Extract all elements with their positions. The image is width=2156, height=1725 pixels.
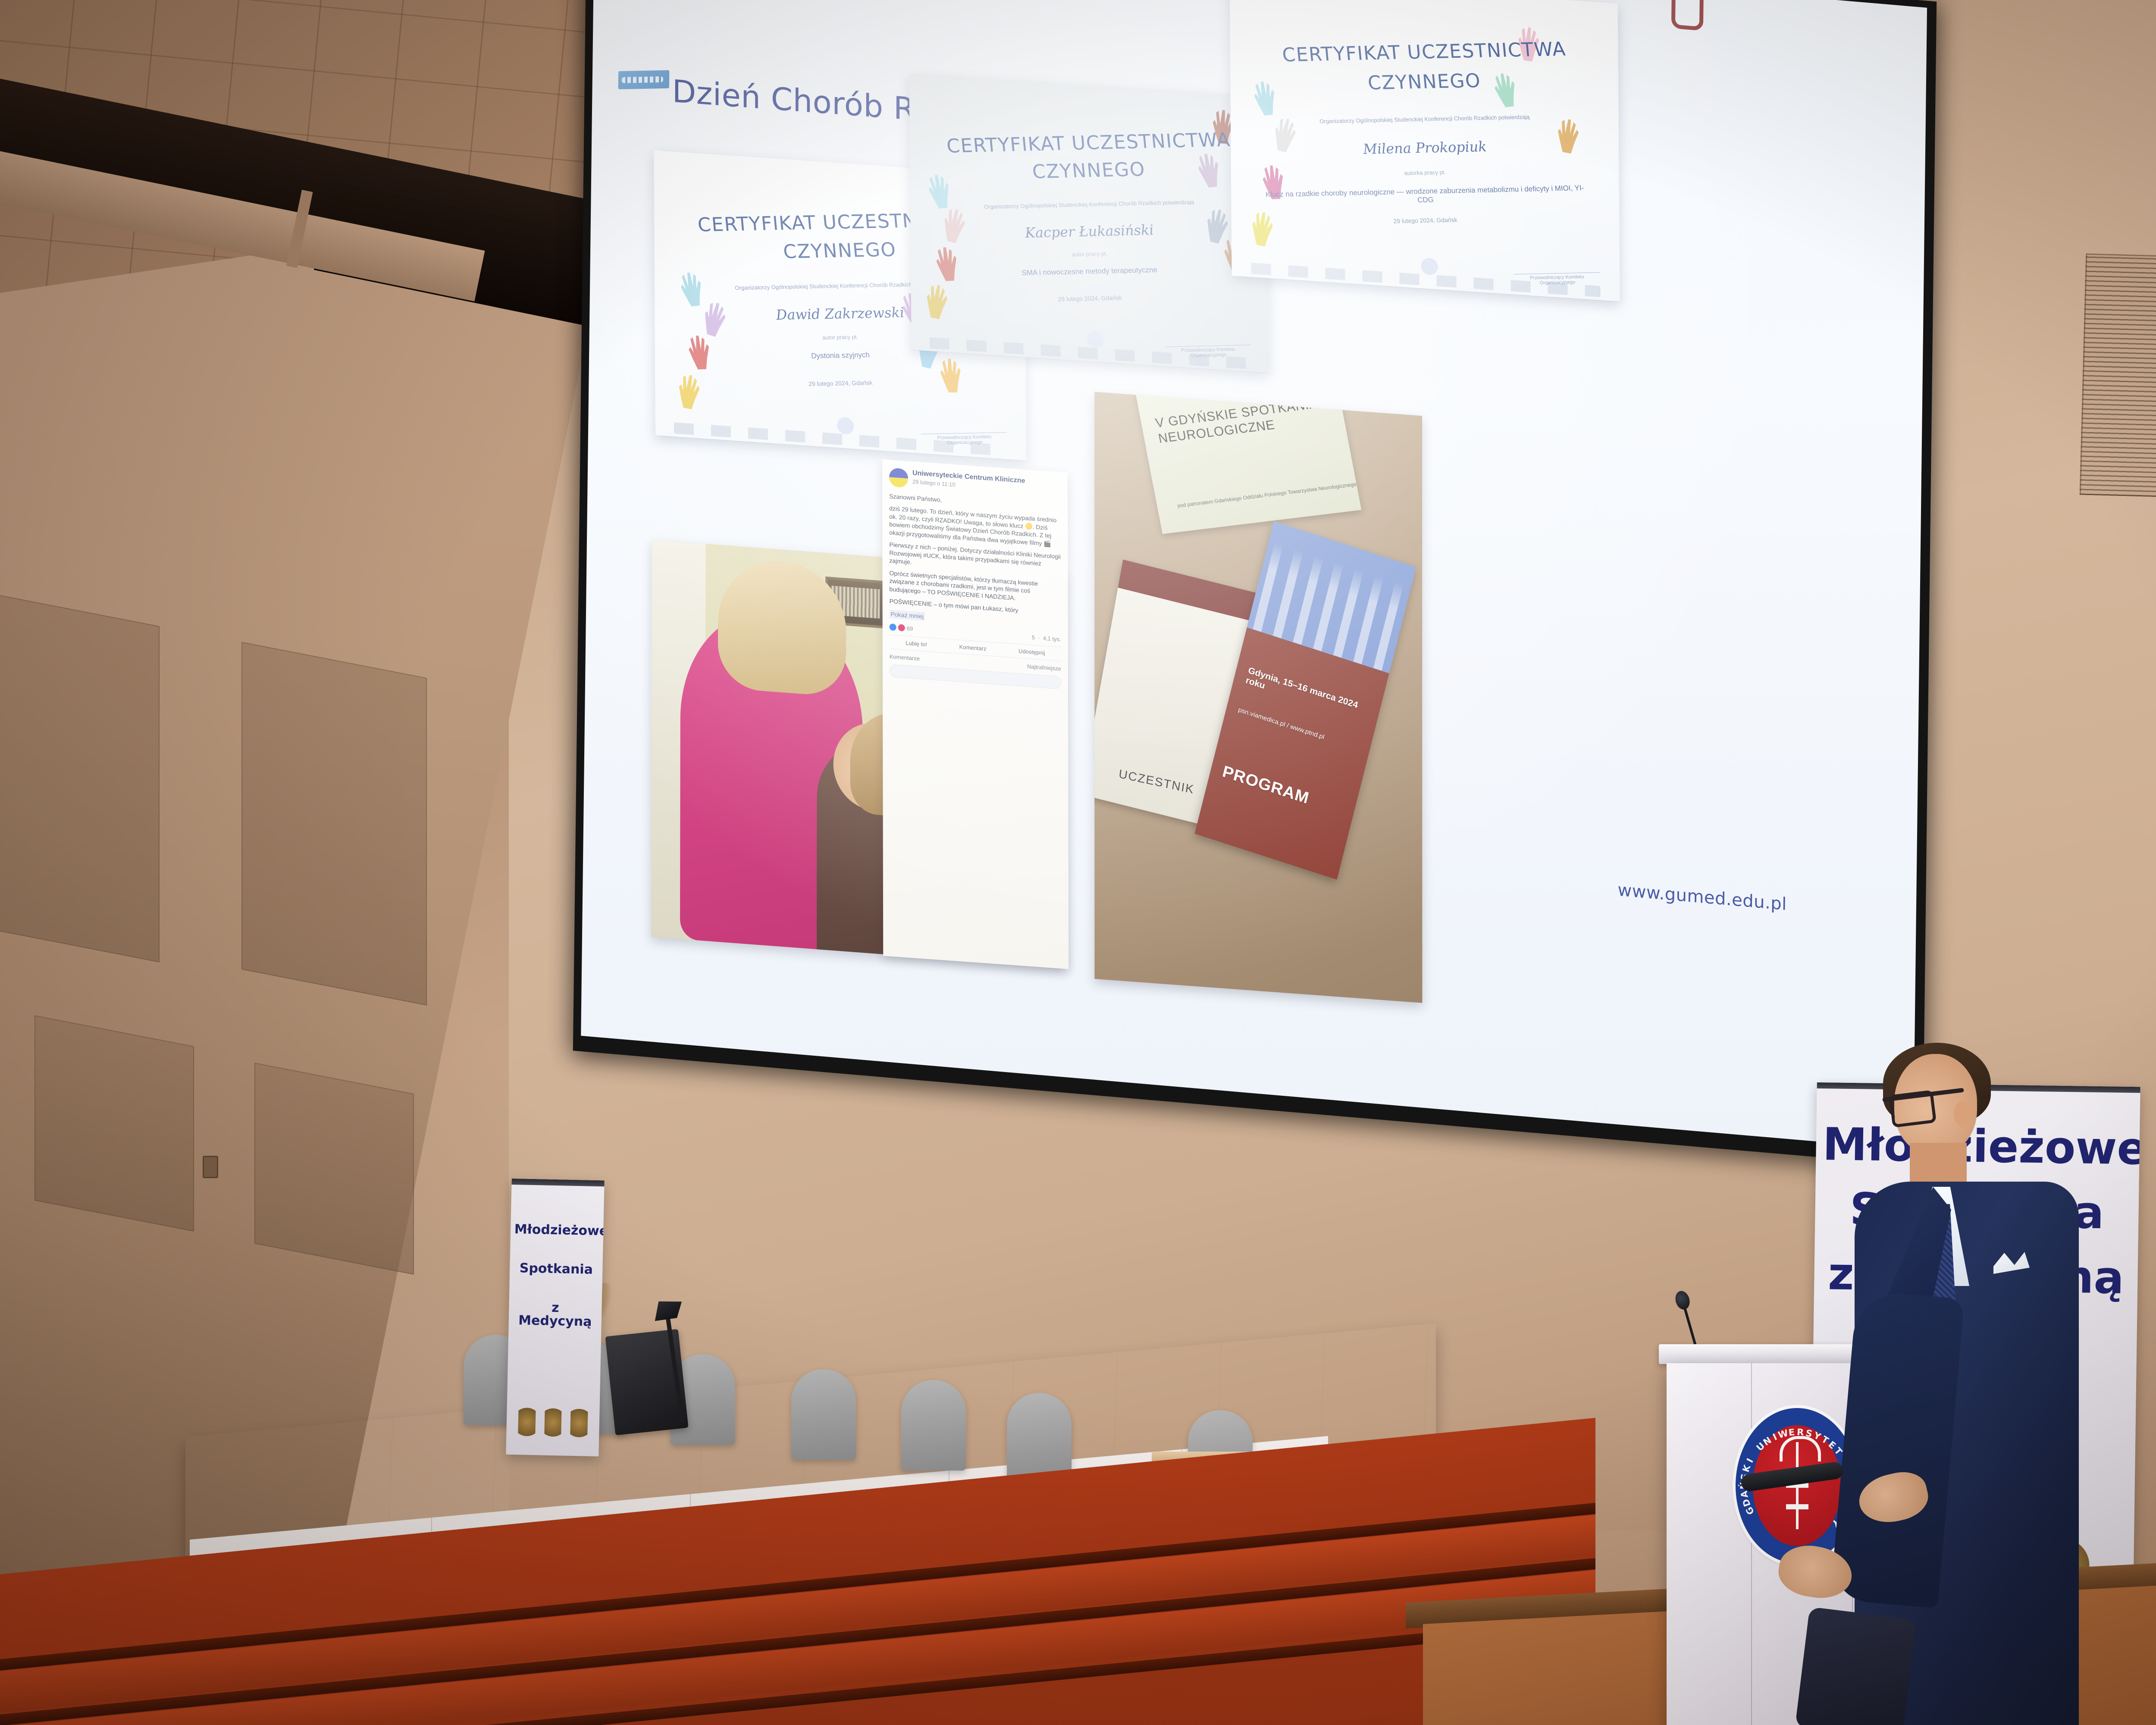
conference-materials-photo: V GDYŃSKIE SPOTKANIA NEUROLOGICZNE pod p… [1094,392,1422,1003]
page-avatar [889,467,908,488]
presenter-person [1818,1052,2085,1725]
love-icon [898,624,905,631]
banner-line-1: Młodzieżowe [514,1223,600,1238]
certificate-for-label: autorka pracy pt. [1232,165,1618,180]
post-paragraph: dziś 29 lutego. To dzień, który w naszym… [889,505,1061,549]
poster-title: V GDYŃSKIE SPOTKANIA NEUROLOGICZNE [1154,393,1345,446]
certificate-card: CERTYFIKAT UCZESTNICTWA CZYNNEGO Organiz… [1230,0,1620,301]
comments-sort-dropdown[interactable]: Najtrafniejsze [1027,663,1061,672]
bag [1795,1607,1917,1725]
certificate-topic: SMA i nowoczesne metody terapeutyczne [940,264,1240,279]
chair [901,1380,966,1471]
projection-screen: Dzień Chorób Rzadkich CERTYFIKAT UCZESTN… [573,0,1937,1166]
ceiling-air-vent [2080,254,2156,497]
program-booklet: Gdynia, 15–16 marca 2024 roku psn.viamed… [1195,521,1416,880]
wall-panel-left-4 [254,1063,414,1275]
comment-button[interactable]: Komentarz [959,643,987,652]
conference-poster: V GDYŃSKIE SPOTKANIA NEUROLOGICZNE pod p… [1135,392,1361,534]
comments-header: Komentarze [890,653,920,662]
certificate-subtitle: Organizatorzy Ogólnopolskiej Studenckiej… [946,198,1232,211]
banner-line-2: Spotkania [514,1261,599,1277]
wall-panel-left-2 [241,642,427,1006]
certificate-heading: CERTYFIKAT UCZESTNICTWA [909,128,1268,158]
lecture-hall-photo: Dzień Chorób Rzadkich CERTYFIKAT UCZESTN… [0,0,2156,1725]
banner-sponsor-logos [514,1397,592,1446]
poster-subtitle: pod patronatem Gdańskiego Oddziału Polsk… [1177,481,1357,508]
certificate-date: 29 lutego 2024, Gdańsk [912,291,1269,306]
slide-tab-badge [618,70,670,89]
certificate-topic: Klucz na rzadkie choroby neurologiczne —… [1262,184,1588,208]
certificate-date: 29 lutego 2024, Gdańsk [1232,213,1619,228]
like-button[interactable]: Lubię to! [906,640,927,648]
ear [1954,1101,1974,1127]
slide-surface: Dzień Chorób Rzadkich CERTYFIKAT UCZESTN… [581,0,1927,1150]
chair [791,1369,856,1460]
post-body: Szanowni Państwo, dziś 29 lutego. To dzi… [889,492,1061,630]
wall-panel-left-3 [34,1015,194,1232]
reaction-count: 69 [907,625,913,632]
wall-panel-left-1 [0,590,160,963]
banner-line-3: z Medycyną [512,1300,598,1330]
certificate-heading-2: CZYNNEGO [1230,67,1619,97]
certificate-date: 29 lutego 2024, Gdańsk [655,376,1025,390]
partial-logo-icon [1659,0,1725,41]
comment-and-view-count: 5 · 4,1 tys. [1032,634,1061,643]
certificate-card: CERTYFIKAT UCZESTNICTWA CZYNNEGO Organiz… [909,73,1269,373]
facebook-post-screenshot: Uniwersyteckie Centrum Kliniczne 29 lute… [882,459,1069,969]
like-icon [890,624,896,631]
reaction-summary[interactable]: 69 [890,624,913,632]
certificate-subtitle: Organizatorzy Ogólnopolskiej Studenckiej… [1270,113,1579,125]
slide-footer-url: www.gumed.edu.pl [1617,880,1787,915]
certificate-heading: CERTYFIKAT UCZESTNICTWA [1230,37,1618,67]
wall-outlet [203,1156,218,1178]
program-label: PROGRAM [1221,762,1347,820]
certificate-for-label: autor pracy pt. [911,247,1268,261]
show-less-link[interactable]: Pokaż mniej [890,609,925,621]
share-button[interactable]: Udostępnij [1018,648,1045,656]
rollup-banner-left: Młodzieżowe Spotkania z Medycyną [506,1179,604,1456]
